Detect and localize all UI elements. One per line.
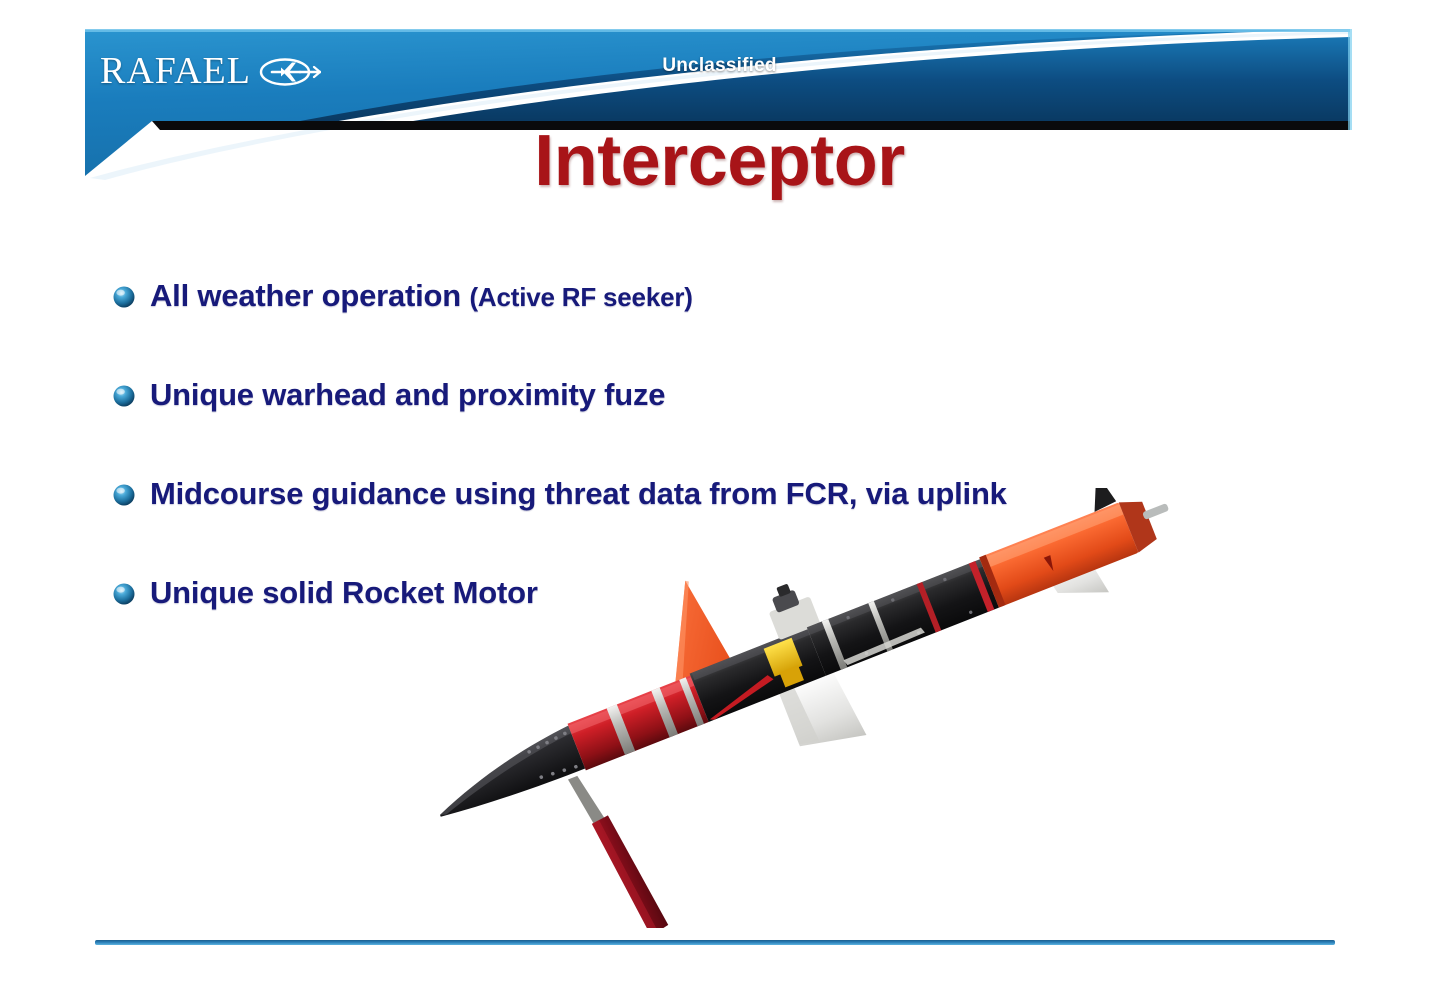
missile-illustration	[386, 488, 1226, 928]
blue-sphere-bullet-icon	[112, 285, 136, 309]
blue-sphere-bullet-icon	[112, 483, 136, 507]
bullet-main-text: All weather operation	[150, 278, 469, 313]
footer-divider	[95, 940, 1335, 945]
list-item-label: All weather operation (Active RF seeker)	[150, 280, 693, 313]
list-item: All weather operation (Active RF seeker)	[112, 268, 1292, 324]
slide-canvas: RAFAEL Unclassified Interceptor	[0, 0, 1439, 1008]
streamer-lanyard	[568, 772, 606, 828]
list-item: Unique warhead and proximity fuze	[112, 367, 1292, 423]
banner-top-highlight	[85, 29, 1350, 32]
safety-streamer	[591, 810, 670, 928]
banner-right-edge	[1348, 29, 1352, 130]
page-title: Interceptor	[0, 125, 1439, 197]
tail-probe	[1142, 503, 1169, 520]
missile-photo	[386, 488, 1226, 928]
blue-sphere-bullet-icon	[112, 384, 136, 408]
list-item-label: Unique warhead and proximity fuze	[150, 379, 665, 412]
blue-sphere-bullet-icon	[112, 582, 136, 606]
classification-marking: Unclassified	[0, 55, 1439, 77]
bullet-sub-text: (Active RF seeker)	[469, 282, 692, 312]
bullet-main-text: Unique warhead and proximity fuze	[150, 377, 665, 412]
